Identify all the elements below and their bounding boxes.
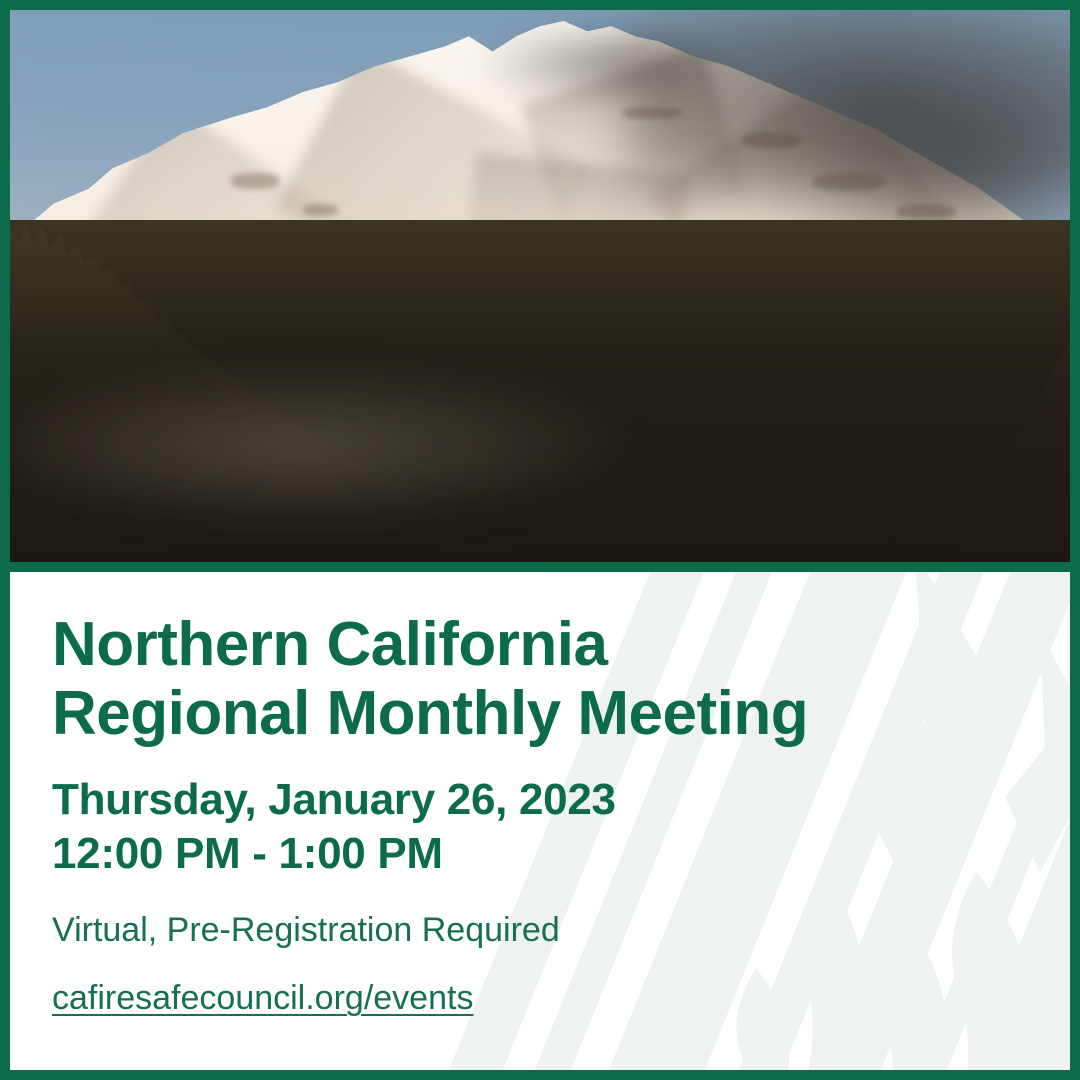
- section-divider: [10, 562, 1070, 572]
- event-time: 12:00 PM - 1:00 PM: [52, 827, 1070, 882]
- rock-outcrop: [303, 204, 339, 216]
- event-text-block: Northern California Regional Monthly Mee…: [10, 572, 1070, 1020]
- rock-outcrop: [231, 173, 278, 188]
- title-line-1: Northern California: [52, 610, 982, 679]
- title-line-2: Regional Monthly Meeting: [52, 679, 982, 748]
- page-title: Northern California Regional Monthly Mee…: [52, 610, 982, 749]
- hero-photo-mount-shasta: [10, 10, 1070, 562]
- event-location-note: Virtual, Pre-Registration Required: [52, 908, 1070, 952]
- event-flyer: Northern California Regional Monthly Mee…: [0, 0, 1080, 1080]
- event-details-panel: Northern California Regional Monthly Mee…: [10, 572, 1070, 1070]
- forest-silhouette: [10, 220, 1070, 562]
- event-date: Thursday, January 26, 2023: [52, 773, 1070, 828]
- event-registration-link[interactable]: cafiresafecouncil.org/events: [52, 976, 473, 1020]
